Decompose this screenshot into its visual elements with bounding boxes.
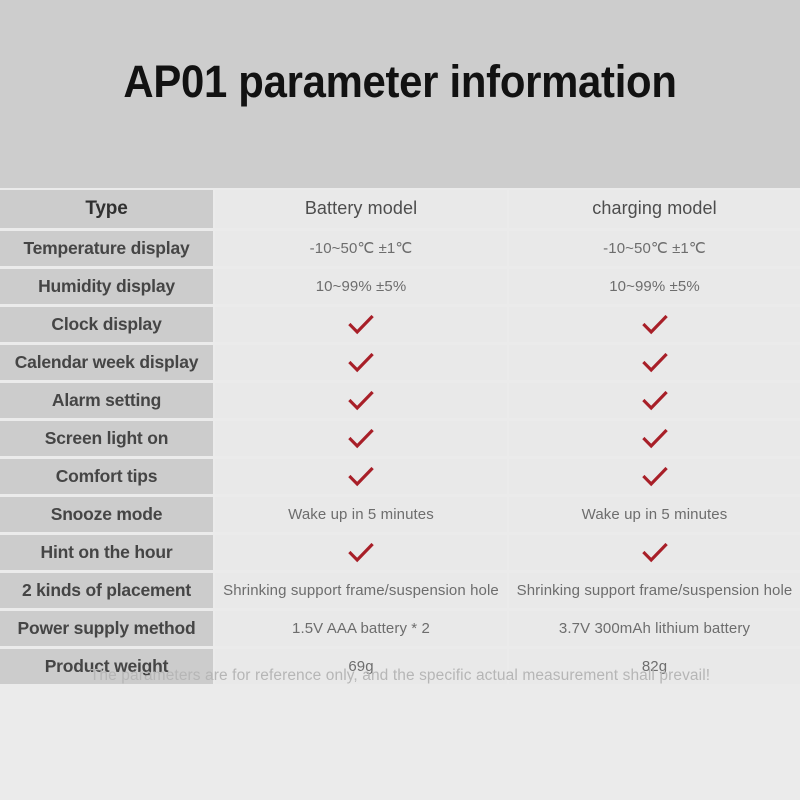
- check-icon: [509, 421, 800, 456]
- table-header-row: TypeBattery modelcharging model: [0, 190, 800, 228]
- check-icon: [509, 383, 800, 418]
- row-label: Snooze mode: [0, 497, 213, 532]
- column-header-battery-model: Battery model: [215, 190, 507, 228]
- table-row: Hint on the hour: [0, 535, 800, 570]
- check-icon: [215, 459, 507, 494]
- table-row: 2 kinds of placementShrinking support fr…: [0, 573, 800, 608]
- cell-value-battery: 1.5V AAA battery * 2: [215, 611, 507, 646]
- table-row: Comfort tips: [0, 459, 800, 494]
- row-label: 2 kinds of placement: [0, 573, 213, 608]
- check-icon: [215, 535, 507, 570]
- check-icon: [215, 345, 507, 380]
- check-icon: [215, 383, 507, 418]
- check-icon: [509, 459, 800, 494]
- check-icon: [509, 345, 800, 380]
- cell-value-charging: Shrinking support frame/suspension hole: [509, 573, 800, 608]
- table-row: Temperature display-10~50℃ ±1℃-10~50℃ ±1…: [0, 231, 800, 266]
- check-icon: [215, 421, 507, 456]
- table-row: Alarm setting: [0, 383, 800, 418]
- row-label: Clock display: [0, 307, 213, 342]
- cell-value-charging: Wake up in 5 minutes: [509, 497, 800, 532]
- cell-value-battery: -10~50℃ ±1℃: [215, 231, 507, 266]
- check-icon: [509, 535, 800, 570]
- row-label: Humidity display: [0, 269, 213, 304]
- specification-table: TypeBattery modelcharging modelTemperatu…: [0, 190, 800, 687]
- cell-value-charging: 3.7V 300mAh lithium battery: [509, 611, 800, 646]
- footnote-text: The parameters are for reference only, a…: [0, 667, 800, 685]
- cell-value-battery: Shrinking support frame/suspension hole: [215, 573, 507, 608]
- row-label: Calendar week display: [0, 345, 213, 380]
- page-title: AP01 parameter information: [28, 56, 772, 108]
- column-header-type: Type: [0, 190, 213, 228]
- row-label: Screen light on: [0, 421, 213, 456]
- row-label: Comfort tips: [0, 459, 213, 494]
- table-row: Calendar week display: [0, 345, 800, 380]
- table-row: Screen light on: [0, 421, 800, 456]
- check-icon: [509, 307, 800, 342]
- cell-value-battery: 10~99% ±5%: [215, 269, 507, 304]
- cell-value-battery: Wake up in 5 minutes: [215, 497, 507, 532]
- check-icon: [215, 307, 507, 342]
- row-label: Temperature display: [0, 231, 213, 266]
- cell-value-charging: 10~99% ±5%: [509, 269, 800, 304]
- table-row: Snooze modeWake up in 5 minutesWake up i…: [0, 497, 800, 532]
- row-label: Hint on the hour: [0, 535, 213, 570]
- table-row: Clock display: [0, 307, 800, 342]
- table-row: Power supply method1.5V AAA battery * 23…: [0, 611, 800, 646]
- parameter-spec-page: AP01 parameter information TypeBattery m…: [0, 0, 800, 800]
- row-label: Alarm setting: [0, 383, 213, 418]
- column-header-charging-model: charging model: [509, 190, 800, 228]
- cell-value-charging: -10~50℃ ±1℃: [509, 231, 800, 266]
- row-label: Power supply method: [0, 611, 213, 646]
- table-row: Humidity display10~99% ±5%10~99% ±5%: [0, 269, 800, 304]
